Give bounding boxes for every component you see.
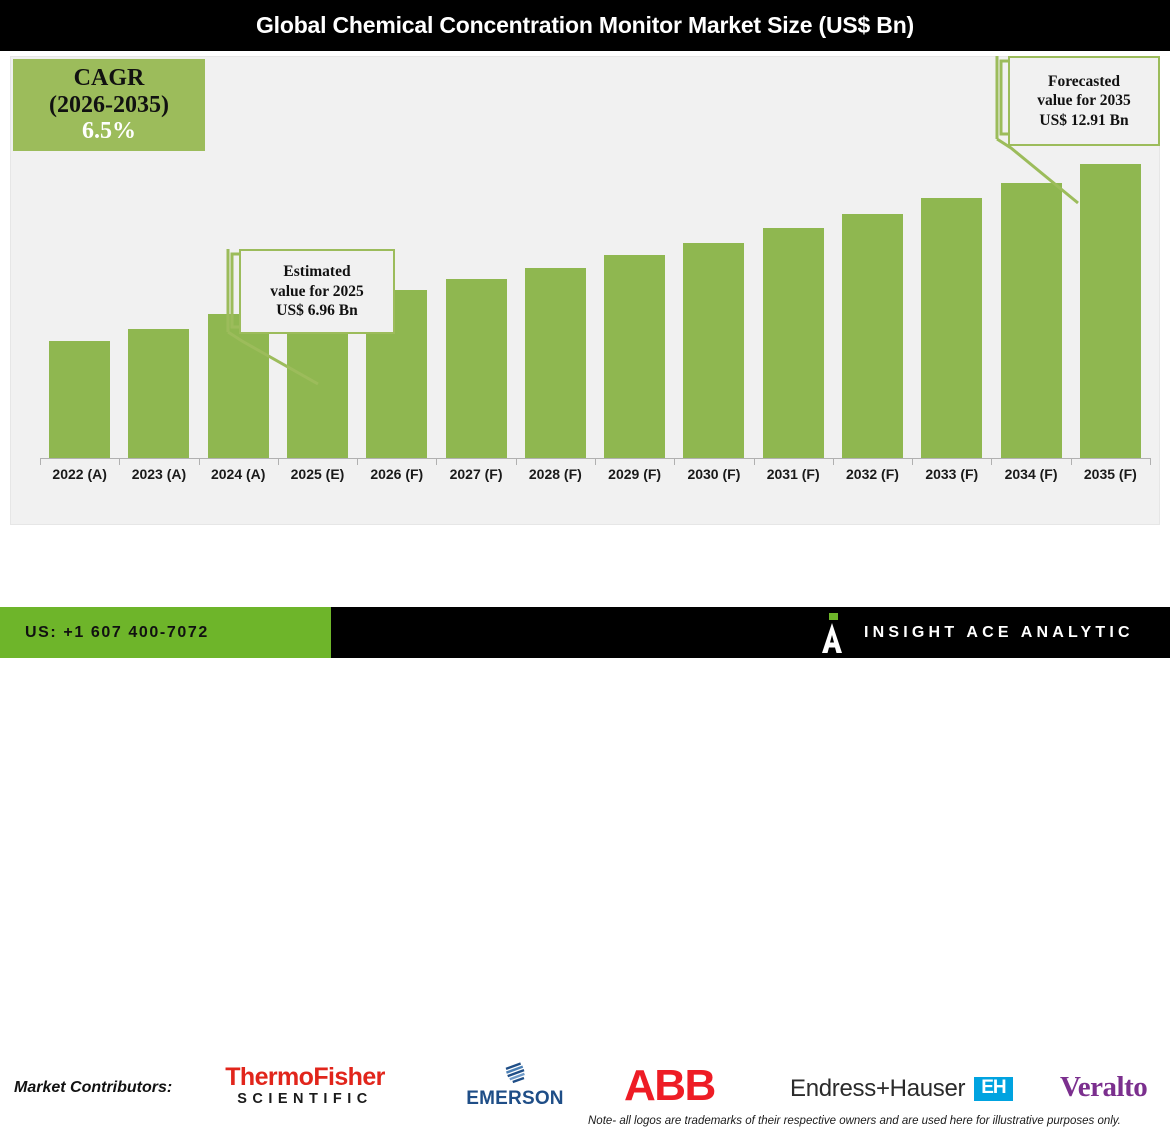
bar — [842, 214, 903, 458]
veralto-wordmark: Veralto — [1060, 1073, 1147, 1102]
cagr-value: 6.5% — [82, 118, 136, 145]
x-axis-tick — [119, 458, 120, 465]
market-contributors-label: Market Contributors: — [14, 1079, 172, 1097]
x-axis-label: 2023 (A) — [119, 466, 198, 482]
bar — [921, 198, 982, 458]
x-axis-label: 2027 (F) — [436, 466, 515, 482]
logo-emerson: EMERSON — [455, 1062, 575, 1108]
x-axis-tick — [40, 458, 41, 465]
cagr-badge: CAGR (2026-2035) 6.5% — [13, 59, 205, 151]
x-axis-tick — [991, 458, 992, 465]
logo-abb: ABB — [624, 1064, 715, 1108]
page-title: Global Chemical Concentration Monitor Ma… — [256, 12, 914, 39]
x-axis-tick — [516, 458, 517, 465]
x-axis-label: 2022 (A) — [40, 466, 119, 482]
callout-estimated-line2: value for 2025 — [270, 282, 364, 301]
x-axis-label: 2028 (F) — [516, 466, 595, 482]
x-axis-tick — [595, 458, 596, 465]
footer-brand-name: INSIGHT ACE ANALYTIC — [864, 624, 1134, 642]
cagr-period: (2026-2035) — [49, 92, 169, 119]
bar — [683, 243, 744, 458]
bar — [1080, 164, 1141, 458]
x-axis-label: 2024 (A) — [199, 466, 278, 482]
bar — [49, 341, 110, 458]
x-axis-label: 2029 (F) — [595, 466, 674, 482]
callout-forecasted-line2: value for 2035 — [1037, 91, 1131, 110]
insight-ace-logo-icon — [818, 613, 846, 653]
thermo-fisher-subtext: SCIENTIFIC — [214, 1090, 396, 1108]
x-axis-tick — [278, 458, 279, 465]
x-axis-tick — [754, 458, 755, 465]
bar — [763, 228, 824, 458]
x-axis-label: 2035 (F) — [1071, 466, 1150, 482]
x-axis-tick — [357, 458, 358, 465]
callout-estimated-line3: US$ 6.96 Bn — [276, 301, 357, 320]
callout-estimated-line1: Estimated — [283, 262, 350, 281]
x-axis-tick — [199, 458, 200, 465]
emerson-wordmark: EMERSON — [455, 1089, 575, 1108]
x-axis-label: 2030 (F) — [674, 466, 753, 482]
footer-brand: INSIGHT ACE ANALYTIC — [818, 607, 1134, 658]
callout-forecasted-2035: Forecasted value for 2035 US$ 12.91 Bn — [1008, 56, 1160, 146]
x-axis-label: 2025 (E) — [278, 466, 357, 482]
x-axis-tick — [833, 458, 834, 465]
x-axis-label: 2026 (F) — [357, 466, 436, 482]
bar — [604, 255, 665, 458]
x-axis-tick — [436, 458, 437, 465]
market-contributors-strip: Market Contributors: ThermoFisher SCIENT… — [0, 527, 1170, 607]
x-axis-tick — [1150, 458, 1151, 465]
logo-thermo-fisher: ThermoFisher SCIENTIFIC — [214, 1065, 396, 1108]
bar — [1001, 183, 1062, 458]
logo-endress-hauser: Endress+Hauser EH — [790, 1075, 1013, 1103]
emerson-mark-icon — [497, 1062, 534, 1084]
endress-hauser-badge-icon: EH — [974, 1077, 1012, 1101]
callout-estimated-2025: Estimated value for 2025 US$ 6.96 Bn — [239, 249, 395, 334]
x-axis-label: 2033 (F) — [912, 466, 991, 482]
footer-bar: US: +1 607 400-7072 INSIGHT ACE ANALYTIC — [0, 607, 1170, 658]
x-axis-label: 2032 (F) — [833, 466, 912, 482]
x-axis-tick — [674, 458, 675, 465]
callout-forecasted-line3: US$ 12.91 Bn — [1039, 111, 1128, 130]
x-axis-tick — [1071, 458, 1072, 465]
logo-veralto: Veralto — [1060, 1073, 1147, 1102]
bar — [128, 329, 189, 458]
x-axis-label: 2031 (F) — [754, 466, 833, 482]
x-axis-label: 2034 (F) — [991, 466, 1070, 482]
bar — [525, 268, 586, 458]
footer-phone-number[interactable]: US: +1 607 400-7072 — [25, 607, 209, 658]
thermo-fisher-wordmark: ThermoFisher — [214, 1065, 396, 1090]
x-axis-tick — [912, 458, 913, 465]
callout-forecasted-line1: Forecasted — [1048, 72, 1120, 91]
bar — [208, 314, 269, 458]
cagr-title: CAGR — [74, 65, 145, 92]
bar — [446, 279, 507, 458]
logo-trademark-note: Note- all logos are trademarks of their … — [588, 1115, 1121, 1127]
endress-hauser-wordmark: Endress+Hauser — [790, 1075, 965, 1103]
title-bar: Global Chemical Concentration Monitor Ma… — [0, 0, 1170, 51]
abb-wordmark: ABB — [624, 1064, 715, 1108]
